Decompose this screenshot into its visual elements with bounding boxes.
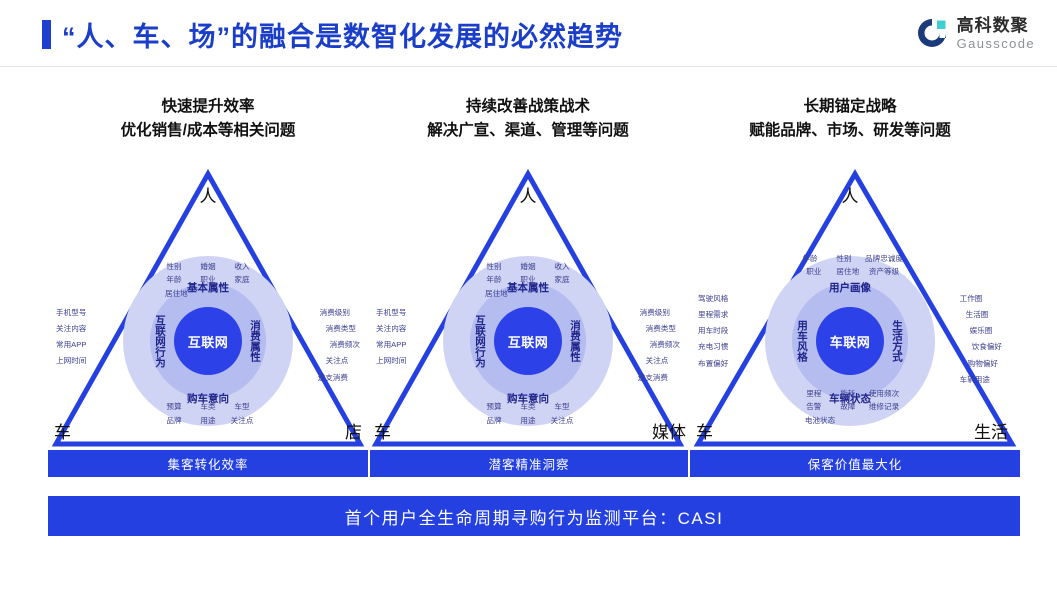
sat-item: 性别	[157, 260, 191, 273]
sat-item: 用途	[191, 414, 225, 427]
logo-text-en: Gausscode	[957, 37, 1035, 50]
satellite-bottom-1: 预算车类车型 品牌用途关注点	[157, 400, 259, 427]
platform-label: 首个用户全生命周期寻购行为监测平台：CASI	[345, 504, 724, 529]
satellite-left-2: 手机型号 关注内容 常用APP 上网时间	[376, 304, 406, 369]
ring-label-left-1: 互联网行为	[153, 315, 168, 368]
platform-banner: 首个用户全生命周期寻购行为监测平台：CASI	[48, 496, 1020, 536]
sat-item: 常用APP	[376, 337, 406, 353]
column-2-head-line2: 解决广宣、渠道、管理等问题	[368, 119, 688, 143]
triangle-2-vertex-left: 车	[374, 418, 391, 443]
core-label-1: 互联网	[188, 332, 229, 351]
sat-item: 饮食偏好	[958, 339, 1002, 355]
banner-1-label: 集客转化效率	[167, 454, 248, 473]
sat-item: 收入	[545, 260, 579, 273]
logo-text-cn: 高科数聚	[957, 17, 1035, 34]
triangle-3-vertex-left: 车	[696, 418, 713, 443]
sat-item: 驾驶风格	[698, 290, 728, 306]
sat-item: 生活圈	[958, 306, 1002, 322]
column-heading-1: 快速提升效率 优化销售/成本等相关问题	[48, 95, 368, 143]
sat-item: 资产等级	[865, 265, 903, 278]
triangle-diagram-3: 人 车 生活 车联网 用户画像 车辆状态 用车风格 生活方式 年龄性别品牌忠诚度…	[690, 160, 1010, 450]
triangle-1-vertex-left: 车	[54, 418, 71, 443]
title-accent-bar	[42, 20, 51, 49]
sat-item: 家庭	[545, 273, 579, 286]
banner-2-label: 潜客精准洞察	[488, 454, 569, 473]
sat-item: 购物偏好	[958, 355, 1002, 371]
satellite-right-2: 消费级别 消费类型 消费频次 关注点 透支消费	[638, 304, 680, 385]
sat-item: 关注点	[638, 353, 680, 369]
sat-item: 职业	[797, 265, 831, 278]
brand-logo: 高科数聚 Gausscode	[915, 16, 1035, 50]
satellite-right-3: 工作圈 生活圈 娱乐圈 饮食偏好 购物偏好 车辆用途	[958, 290, 1002, 388]
satellite-top-1: 性别婚姻收入 年龄职业家庭 居住地	[157, 260, 259, 300]
sat-item: 职业	[191, 273, 225, 286]
ring-label-top-3: 用户画像	[829, 280, 871, 295]
sat-item: 关注内容	[56, 320, 86, 336]
sat-item: 使用频次	[865, 387, 903, 400]
column-heading-3: 长期锚定战略 赋能品牌、市场、研发等问题	[690, 95, 1010, 143]
satellite-left-3: 驾驶风格 里程需求 用车时段 充电习惯 布置偏好	[698, 290, 728, 371]
ring-core-1: 互联网	[174, 307, 242, 375]
ring-label-right-1: 消费属性	[248, 320, 263, 362]
sat-item: 充电习惯	[698, 339, 728, 355]
sat-item: 车类	[191, 400, 225, 413]
triangle-3-vertex-top: 人	[842, 182, 859, 207]
header-divider	[0, 66, 1057, 67]
sat-item: 预算	[477, 400, 511, 413]
sat-item: 预算	[157, 400, 191, 413]
sat-item: 故障	[831, 400, 865, 413]
sat-item: 消费频次	[318, 337, 360, 353]
satellite-bottom-3: 里程能耗使用频次 告警故障维修记录 电池状态	[797, 387, 903, 427]
satellite-top-3: 年龄性别品牌忠诚度 职业居住地资产等级	[793, 252, 907, 279]
sat-item: 透支消费	[638, 369, 680, 385]
sat-item: 手机型号	[376, 304, 406, 320]
column-heading-2: 持续改善战策战术 解决广宣、渠道、管理等问题	[368, 95, 688, 143]
sat-item: 手机型号	[56, 304, 86, 320]
triangle-diagram-2: 人 车 媒体 互联网 基本属性 购车意向 互联网行为 消费属性 性别婚姻收入 年…	[368, 160, 688, 450]
banner-2: 潜客精准洞察	[370, 450, 688, 477]
triangle-1-vertex-top: 人	[200, 182, 217, 207]
sat-item: 关注内容	[376, 320, 406, 336]
sat-item: 关注点	[318, 353, 360, 369]
page-header: “人、车、场”的融合是数智化发展的必然趋势 高科数聚 Gausscode	[0, 0, 1057, 66]
gausscode-logo-icon	[915, 16, 949, 50]
column-1-head-line1: 快速提升效率	[48, 95, 368, 119]
ring-core-3: 车联网	[816, 307, 884, 375]
sat-item: 上网时间	[56, 353, 86, 369]
ring-label-right-3: 生活方式	[890, 320, 905, 362]
column-3-head-line1: 长期锚定战略	[690, 95, 1010, 119]
sat-item: 车类	[511, 400, 545, 413]
sat-item: 布置偏好	[698, 355, 728, 371]
sat-item: 里程	[797, 387, 831, 400]
sat-item: 消费频次	[638, 337, 680, 353]
satellite-right-1: 消费级别 消费类型 消费频次 关注点 透支消费	[318, 304, 360, 385]
triangle-1-vertex-right: 店	[345, 418, 362, 443]
sat-item: 消费类型	[318, 320, 360, 336]
column-3-head-line2: 赋能品牌、市场、研发等问题	[690, 119, 1010, 143]
sat-item: 居住地	[481, 287, 515, 300]
sat-item: 娱乐圈	[958, 323, 1002, 339]
sat-item: 里程需求	[698, 306, 728, 322]
sat-item: 维修记录	[865, 400, 903, 413]
ring-label-left-3: 用车风格	[795, 320, 810, 362]
satellite-left-1: 手机型号 关注内容 常用APP 上网时间	[56, 304, 86, 369]
sat-item: 职业	[511, 273, 545, 286]
sat-item: 婚姻	[191, 260, 225, 273]
sat-item: 车辆用途	[958, 371, 1002, 387]
sat-item: 用途	[511, 414, 545, 427]
column-2-head-line1: 持续改善战策战术	[368, 95, 688, 119]
sat-item: 品牌	[157, 414, 191, 427]
sat-item: 告警	[797, 400, 831, 413]
triangle-2-vertex-right: 媒体	[652, 418, 686, 443]
sat-item: 车型	[545, 400, 579, 413]
triangle-diagram-1: 人 车 店 互联网 基本属性 购车意向 互联网行为 消费属性 性别婚姻收入 年龄…	[48, 160, 368, 450]
satellite-top-2: 性别婚姻收入 年龄职业家庭 居住地	[477, 260, 579, 300]
sat-item: 品牌忠诚度	[861, 252, 907, 265]
core-label-3: 车联网	[830, 332, 871, 351]
sat-item: 年龄	[793, 252, 827, 265]
sat-item: 电池状态	[801, 414, 839, 427]
sat-item: 上网时间	[376, 353, 406, 369]
sat-item: 婚姻	[511, 260, 545, 273]
sat-item: 性别	[477, 260, 511, 273]
satellite-bottom-2: 预算车类车型 品牌用途关注点	[477, 400, 579, 427]
sat-item: 工作圈	[958, 290, 1002, 306]
sat-item: 收入	[225, 260, 259, 273]
sat-item: 关注点	[225, 414, 259, 427]
sat-item: 车型	[225, 400, 259, 413]
sat-item: 品牌	[477, 414, 511, 427]
ring-label-left-2: 互联网行为	[473, 315, 488, 368]
sat-item: 年龄	[157, 273, 191, 286]
banner-1: 集客转化效率	[48, 450, 368, 477]
sat-item: 常用APP	[56, 337, 86, 353]
sat-item: 消费级别	[318, 304, 360, 320]
ring-core-2: 互联网	[494, 307, 562, 375]
sat-item: 用车时段	[698, 323, 728, 339]
sat-item: 关注点	[545, 414, 579, 427]
page-title: “人、车、场”的融合是数智化发展的必然趋势	[62, 15, 623, 54]
sat-item: 居住地	[161, 287, 195, 300]
sat-item: 性别	[827, 252, 861, 265]
sat-item: 居住地	[831, 265, 865, 278]
column-1-head-line2: 优化销售/成本等相关问题	[48, 119, 368, 143]
banner-3-label: 保客价值最大化	[808, 454, 903, 473]
sat-item: 家庭	[225, 273, 259, 286]
sat-item: 消费类型	[638, 320, 680, 336]
sat-item: 年龄	[477, 273, 511, 286]
sat-item: 能耗	[831, 387, 865, 400]
core-label-2: 互联网	[508, 332, 549, 351]
triangle-3-vertex-right: 生活	[974, 418, 1008, 443]
sat-item: 消费级别	[638, 304, 680, 320]
sat-item: 透支消费	[318, 369, 360, 385]
triangle-2-vertex-top: 人	[520, 182, 537, 207]
ring-label-right-2: 消费属性	[568, 320, 583, 362]
banner-3: 保客价值最大化	[690, 450, 1020, 477]
